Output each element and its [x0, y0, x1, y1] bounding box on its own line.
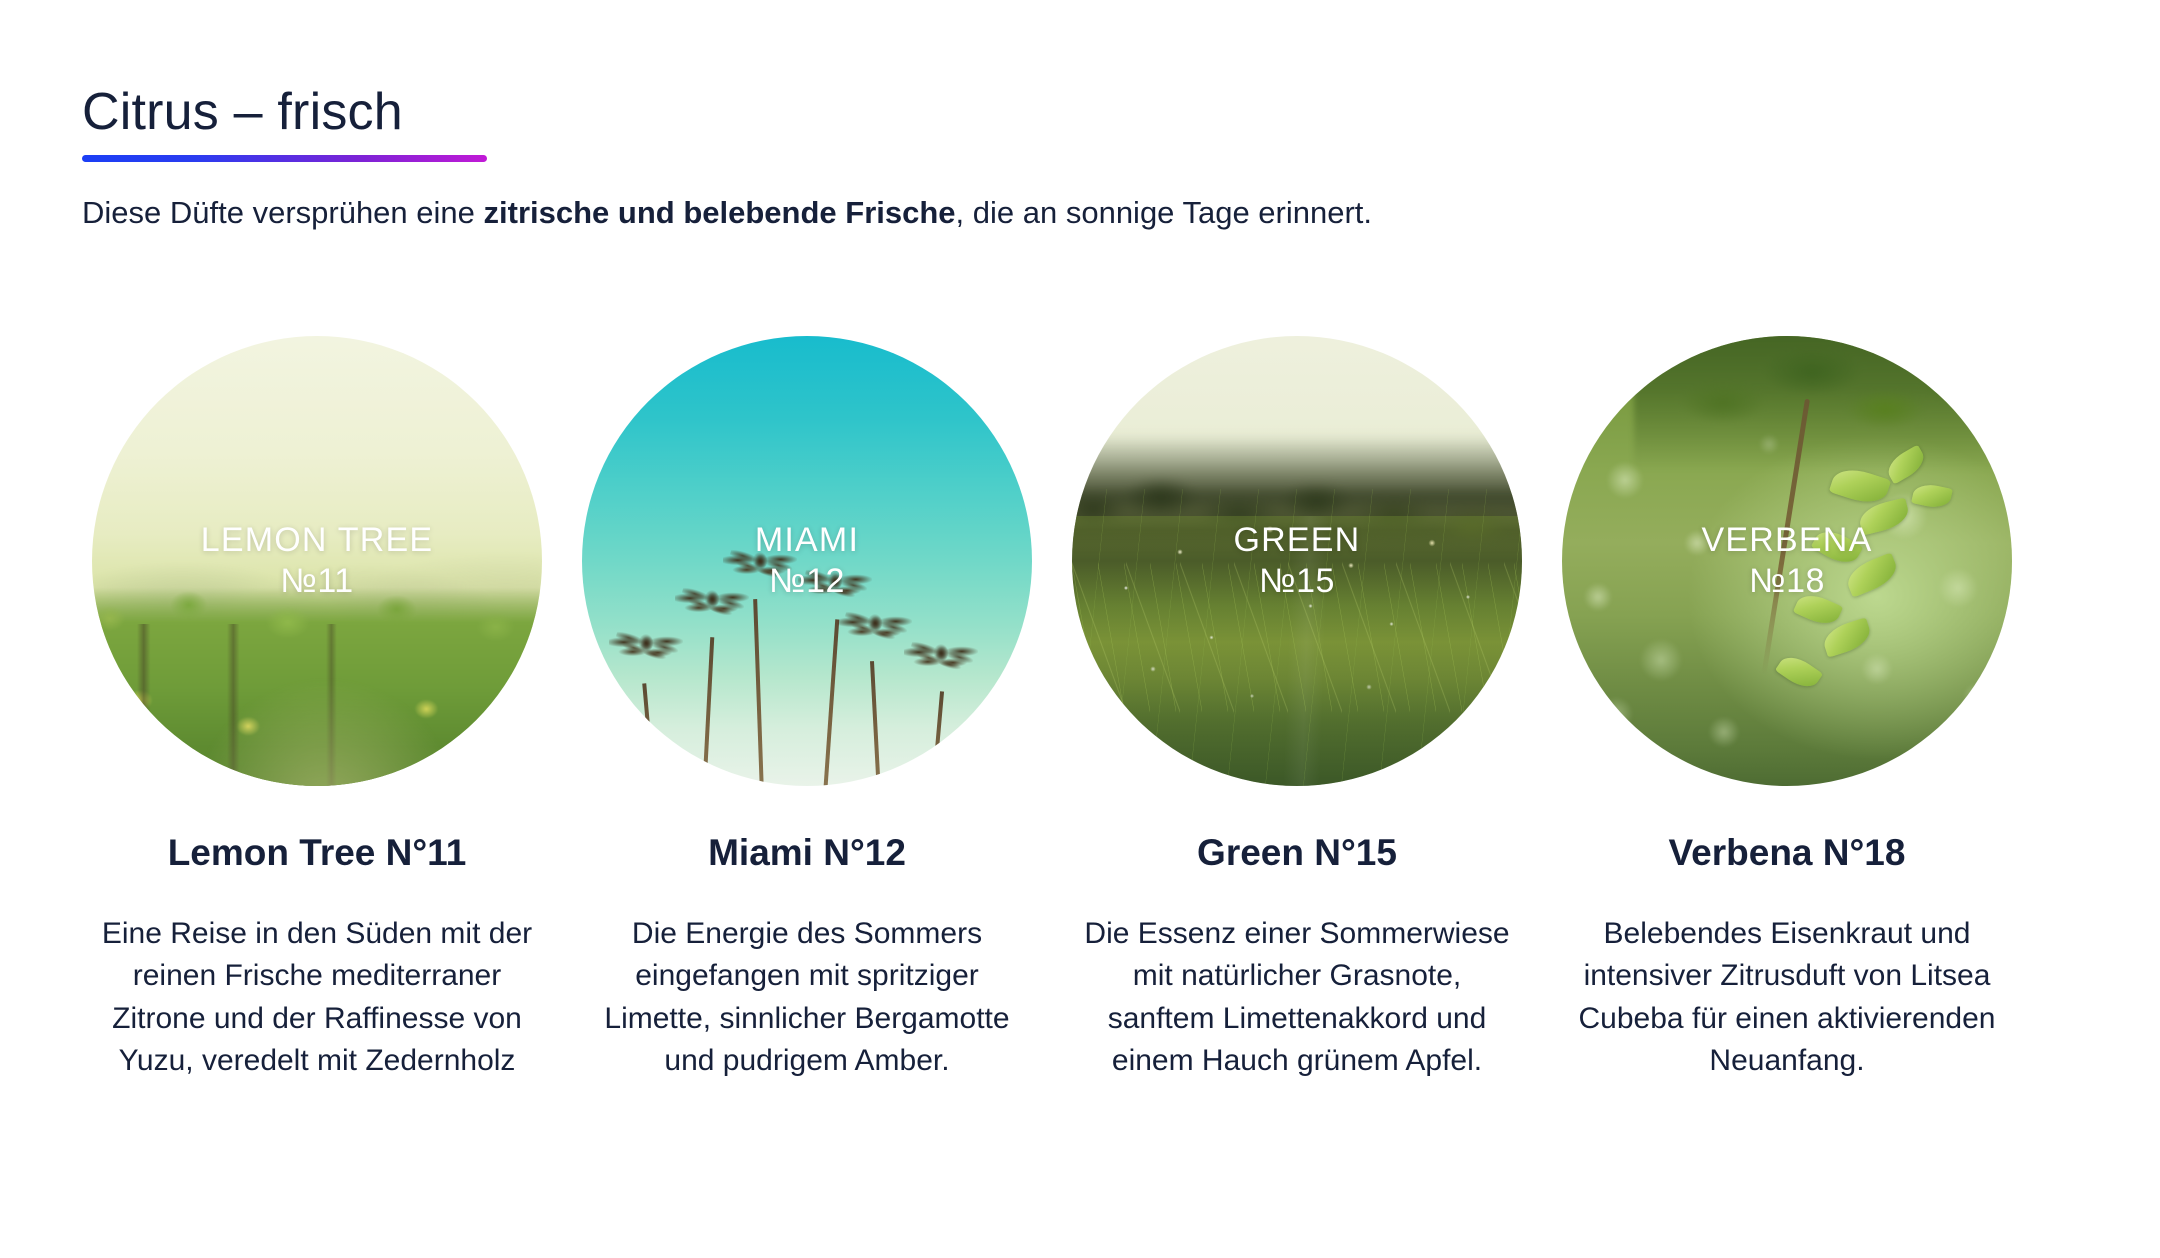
fragrance-title-lemon-tree: Lemon Tree N°11: [168, 832, 467, 875]
fragrance-title-green: Green N°15: [1197, 832, 1397, 875]
fragrance-card-miami[interactable]: MIAMI №12 Miami N°12 Die Energie des Som…: [572, 336, 1042, 1083]
fragrance-description-miami: Die Energie des Sommers eingefangen mit …: [587, 913, 1027, 1083]
fragrance-title-miami: Miami N°12: [708, 832, 906, 875]
subtitle-text-before: Diese Düfte versprühen eine: [82, 195, 484, 230]
fragrance-title-verbena: Verbena N°18: [1669, 832, 1906, 875]
fragrance-description-verbena: Belebendes Eisenkraut und intensiver Zit…: [1567, 913, 2007, 1083]
fragrance-description-lemon-tree: Eine Reise in den Süden mit der reinen F…: [97, 913, 537, 1083]
fragrance-image-green[interactable]: GREEN №15: [1072, 336, 1522, 786]
grove-path-layer: [191, 678, 461, 786]
page-title: Citrus – frisch: [82, 84, 2032, 141]
lemon-grove-photo: [92, 336, 542, 786]
fragrance-card-lemon-tree[interactable]: LEMON TREE №11 Lemon Tree N°11 Eine Reis…: [82, 336, 552, 1083]
fragrance-image-miami[interactable]: MIAMI №12: [582, 336, 1032, 786]
green-leaves-bokeh-photo: [1562, 336, 2012, 786]
dewy-meadow-grass-photo: [1072, 336, 1522, 786]
dew-drops-layer: [1072, 336, 1522, 786]
upper-canopy-layer: [1634, 336, 2012, 471]
fragrance-card-green[interactable]: GREEN №15 Green N°15 Die Essenz einer So…: [1062, 336, 1532, 1083]
fragrance-image-lemon-tree[interactable]: LEMON TREE №11: [92, 336, 542, 786]
subtitle-text-bold: zitrische und belebende Frische: [484, 195, 956, 230]
page-subtitle: Diese Düfte versprühen eine zitrische un…: [82, 192, 2032, 234]
subtitle-text-after: , die an sonnige Tage erinnert.: [956, 195, 1373, 230]
fragrance-image-verbena[interactable]: VERBENA №18: [1562, 336, 2012, 786]
page-header: Citrus – frisch Diese Düfte versprühen e…: [82, 84, 2032, 265]
fragrance-category-page: Citrus – frisch Diese Düfte versprühen e…: [0, 0, 2160, 1258]
fragrance-card-verbena[interactable]: VERBENA №18 Verbena N°18 Belebendes Eise…: [1552, 336, 2022, 1083]
fragrance-card-grid: LEMON TREE №11 Lemon Tree N°11 Eine Reis…: [82, 336, 2082, 1083]
fragrance-description-green: Die Essenz einer Sommerwiese mit natürli…: [1077, 913, 1517, 1083]
title-gradient-rule: [82, 155, 487, 162]
palm-trees-turquoise-sky-photo: [582, 336, 1032, 786]
